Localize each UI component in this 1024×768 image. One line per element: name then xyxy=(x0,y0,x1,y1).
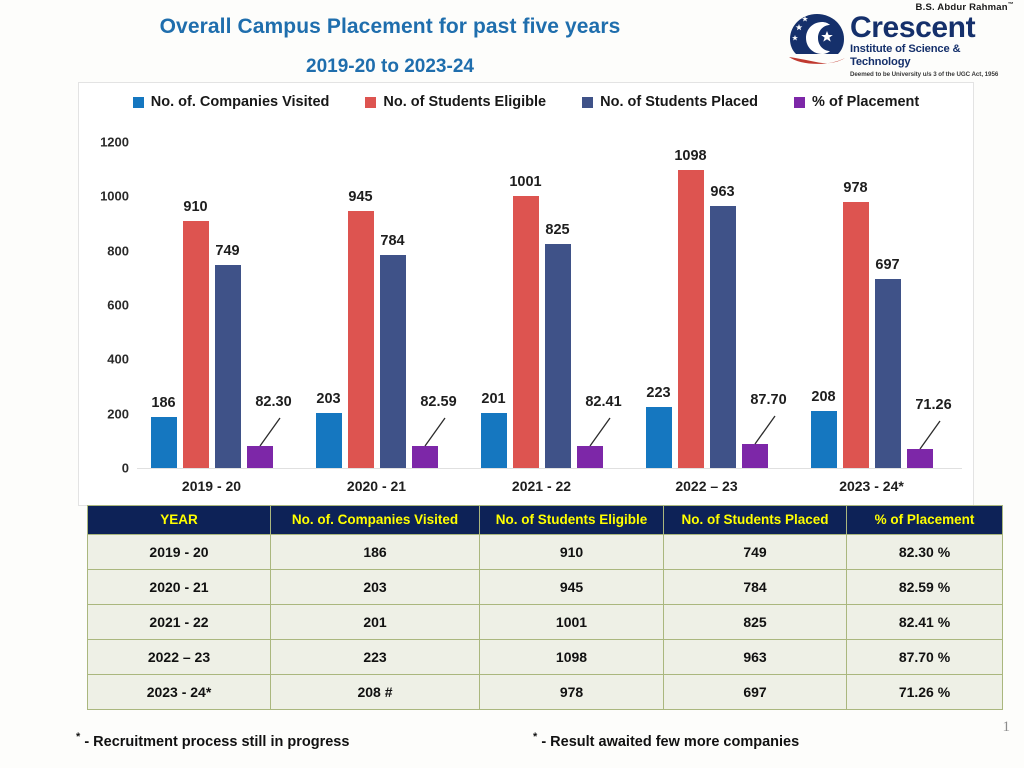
bar-value-label: 784 xyxy=(380,233,404,249)
bar-2-4[interactable] xyxy=(875,279,901,468)
table-cell-percent: 87.70 % xyxy=(847,640,1003,675)
table-cell-year: 2020 - 21 xyxy=(88,570,271,605)
bar-0-0[interactable] xyxy=(151,417,177,468)
bar-value-label: 697 xyxy=(875,257,899,273)
bar-value-label: 1001 xyxy=(509,174,541,190)
callout-leader-line xyxy=(419,412,459,452)
logo-deemed-text: Deemed to be University u/s 3 of the UGC… xyxy=(850,70,1016,79)
table-cell-companies: 201 xyxy=(271,605,480,640)
table-cell-year: 2022 – 23 xyxy=(88,640,271,675)
table-row: 2019 - 2018691074982.30 % xyxy=(88,535,1003,570)
bar-1-4[interactable] xyxy=(843,202,869,468)
logo-subtitle: Institute of Science & Technology xyxy=(850,43,1016,69)
table-cell-percent: 82.41 % xyxy=(847,605,1003,640)
x-axis-tick-label: 2022 – 23 xyxy=(675,478,737,494)
bar-2-3[interactable] xyxy=(710,206,736,468)
table-cell-placed: 784 xyxy=(664,570,847,605)
bar-value-label: 203 xyxy=(316,391,340,407)
y-axis-tick-label: 1200 xyxy=(83,135,129,150)
bar-value-label: 978 xyxy=(843,180,867,196)
table-cell-eligible: 945 xyxy=(480,570,664,605)
x-axis-tick-label: 2020 - 21 xyxy=(347,478,406,494)
bar-value-label: 963 xyxy=(710,184,734,200)
page-number: 1 xyxy=(1003,719,1011,736)
x-axis-tick-label: 2023 - 24* xyxy=(839,478,904,494)
bar-value-label: 71.26 xyxy=(915,397,951,413)
table-header-cell-2: No. of Students Eligible xyxy=(480,506,664,535)
table-cell-eligible: 1001 xyxy=(480,605,664,640)
bar-2-1[interactable] xyxy=(380,255,406,468)
bar-0-2[interactable] xyxy=(481,413,507,468)
bar-0-4[interactable] xyxy=(811,411,837,468)
title-line-1: Overall Campus Placement for past five y… xyxy=(0,12,780,42)
table-cell-placed: 825 xyxy=(664,605,847,640)
footnote-1-marker: * xyxy=(76,731,80,743)
table-cell-eligible: 978 xyxy=(480,675,664,710)
table-cell-placed: 963 xyxy=(664,640,847,675)
bar-value-label: 1098 xyxy=(674,148,706,164)
bar-value-label: 825 xyxy=(545,222,569,238)
crescent-logo: B.S. Abdur Rahman™ Crescent Institute of… xyxy=(786,2,1016,76)
callout-leader-line xyxy=(254,412,294,452)
table-row: 2023 - 24*208 #97869771.26 % xyxy=(88,675,1003,710)
logo-name: Crescent xyxy=(850,12,1016,43)
table-cell-percent: 82.59 % xyxy=(847,570,1003,605)
table-header-cell-4: % of Placement xyxy=(847,506,1003,535)
bar-1-2[interactable] xyxy=(513,196,539,468)
table-cell-companies: 186 xyxy=(271,535,480,570)
callout-leader-line xyxy=(914,415,954,455)
table-head: YEARNo. of. Companies VisitedNo. of Stud… xyxy=(88,506,1003,535)
y-axis-tick-label: 1000 xyxy=(83,189,129,204)
bar-value-label: 201 xyxy=(481,391,505,407)
title-line-2: 2019-20 to 2023-24 xyxy=(0,52,780,82)
x-axis-line xyxy=(137,468,962,469)
y-axis-tick-label: 800 xyxy=(83,243,129,258)
y-axis-tick-label: 200 xyxy=(83,406,129,421)
x-axis-tick-label: 2021 - 22 xyxy=(512,478,571,494)
footnote-result-awaited: * - Result awaited few more companies xyxy=(533,731,799,750)
y-axis-tick-label: 0 xyxy=(83,461,129,476)
logo-wordmark: Crescent Institute of Science & Technolo… xyxy=(850,12,1016,79)
chart-plot-area: 02004006008001000120018691074982.302019 … xyxy=(79,83,975,507)
y-axis-tick-label: 400 xyxy=(83,352,129,367)
bar-value-label: 186 xyxy=(151,395,175,411)
callout-leader-line xyxy=(749,410,789,450)
bar-value-label: 87.70 xyxy=(750,392,786,408)
bar-value-label: 82.59 xyxy=(420,394,456,410)
callout-leader-line xyxy=(584,412,624,452)
table-cell-eligible: 910 xyxy=(480,535,664,570)
table-cell-year: 2021 - 22 xyxy=(88,605,271,640)
table-row: 2022 – 23223109896387.70 % xyxy=(88,640,1003,675)
placement-data-table: YEARNo. of. Companies VisitedNo. of Stud… xyxy=(87,505,1003,710)
table-row: 2021 - 22201100182582.41 % xyxy=(88,605,1003,640)
table-header-cell-3: No. of Students Placed xyxy=(664,506,847,535)
table-header-cell-0: YEAR xyxy=(88,506,271,535)
bar-value-label: 82.41 xyxy=(585,394,621,410)
table-cell-companies: 203 xyxy=(271,570,480,605)
table-cell-percent: 82.30 % xyxy=(847,535,1003,570)
table-cell-year: 2023 - 24* xyxy=(88,675,271,710)
bar-2-2[interactable] xyxy=(545,244,571,468)
crescent-moon-emblem-icon xyxy=(786,11,848,69)
table-cell-eligible: 1098 xyxy=(480,640,664,675)
bar-value-label: 910 xyxy=(183,199,207,215)
footnotes: * - Recruitment process still in progres… xyxy=(76,731,976,753)
bar-0-3[interactable] xyxy=(646,407,672,468)
table-cell-companies: 223 xyxy=(271,640,480,675)
bar-value-label: 945 xyxy=(348,189,372,205)
bar-value-label: 223 xyxy=(646,385,670,401)
table-header-cell-1: No. of. Companies Visited xyxy=(271,506,480,535)
table-body: 2019 - 2018691074982.30 %2020 - 21203945… xyxy=(88,535,1003,710)
bar-value-label: 749 xyxy=(215,243,239,259)
table-cell-placed: 697 xyxy=(664,675,847,710)
bar-2-0[interactable] xyxy=(215,265,241,468)
trademark-icon: ™ xyxy=(1008,2,1014,8)
bar-1-1[interactable] xyxy=(348,211,374,468)
table-cell-year: 2019 - 20 xyxy=(88,535,271,570)
footnote-1-text: - Recruitment process still in progress xyxy=(84,734,349,750)
bar-value-label: 82.30 xyxy=(255,394,291,410)
bar-1-3[interactable] xyxy=(678,170,704,468)
page-title: Overall Campus Placement for past five y… xyxy=(0,12,780,82)
table-row: 2020 - 2120394578482.59 % xyxy=(88,570,1003,605)
footnote-recruitment: * - Recruitment process still in progres… xyxy=(76,731,349,750)
table-cell-percent: 71.26 % xyxy=(847,675,1003,710)
table-header-row: YEARNo. of. Companies VisitedNo. of Stud… xyxy=(88,506,1003,535)
bar-0-1[interactable] xyxy=(316,413,342,468)
y-axis-tick-label: 600 xyxy=(83,298,129,313)
chart-panel: No. of. Companies VisitedNo. of Students… xyxy=(78,82,974,506)
table-cell-placed: 749 xyxy=(664,535,847,570)
bar-value-label: 208 xyxy=(811,389,835,405)
table-cell-companies: 208 # xyxy=(271,675,480,710)
x-axis-tick-label: 2019 - 20 xyxy=(182,478,241,494)
footnote-2-text: - Result awaited few more companies xyxy=(541,734,799,750)
footnote-2-marker: * xyxy=(533,731,537,743)
bar-1-0[interactable] xyxy=(183,221,209,468)
